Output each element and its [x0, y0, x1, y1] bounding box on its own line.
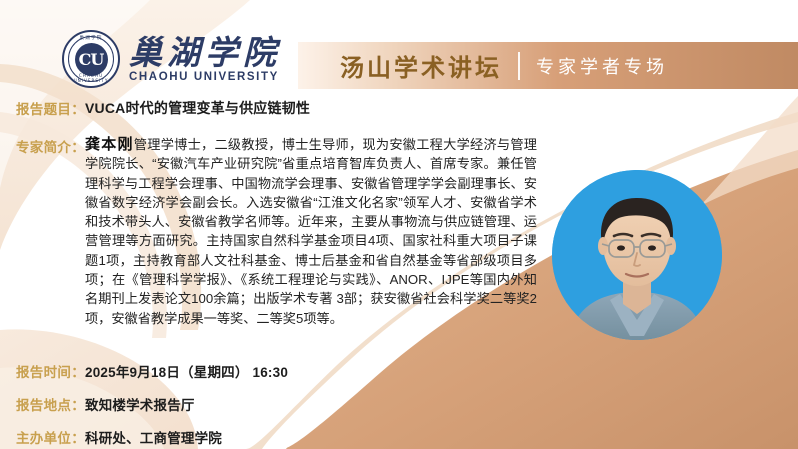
expert-bio-row: 专家简介： 龚本刚管理学博士，二级教授，博士生导师，现为安徽工程大学经济与管理学… — [16, 135, 546, 328]
lecture-place-label: 报告地点： — [16, 394, 85, 414]
expert-portrait — [552, 170, 722, 340]
lecture-place-value: 致知楼学术报告厅 — [85, 394, 195, 414]
portrait-eye-right — [648, 245, 656, 250]
lecture-title-row: 报告题目： VUCA时代的管理变革与供应链韧性 — [16, 98, 310, 118]
organizer-value: 科研处、工商管理学院 — [85, 427, 222, 447]
lecture-poster: 巢湖学院 CU CHAOHU UNIVERSITY 巢湖学院 CHAOHU UN… — [0, 0, 798, 449]
organizer-label: 主办单位： — [16, 427, 85, 447]
portrait-eye-left — [617, 245, 625, 250]
expert-name: 龚本刚 — [85, 136, 134, 153]
expert-bio-text: 管理学博士，二级教授，博士生导师，现为安徽工程大学经济与管理学院院长、“安徽汽车… — [85, 137, 537, 326]
lecture-time-row: 报告时间： 2025年9月18日（星期四） 16:30 — [16, 361, 288, 381]
lecture-title-label: 报告题目： — [16, 98, 85, 118]
lecture-time-label: 报告时间： — [16, 361, 85, 381]
lecture-time-value: 2025年9月18日（星期四） 16:30 — [85, 361, 288, 381]
expert-bio-body: 龚本刚管理学博士，二级教授，博士生导师，现为安徽工程大学经济与管理学院院长、“安… — [85, 135, 537, 328]
organizer-row: 主办单位： 科研处、工商管理学院 — [16, 427, 222, 447]
expert-bio-label: 专家简介： — [16, 135, 85, 156]
lecture-place-row: 报告地点： 致知楼学术报告厅 — [16, 394, 195, 414]
lecture-title-value: VUCA时代的管理变革与供应链韧性 — [85, 98, 310, 118]
